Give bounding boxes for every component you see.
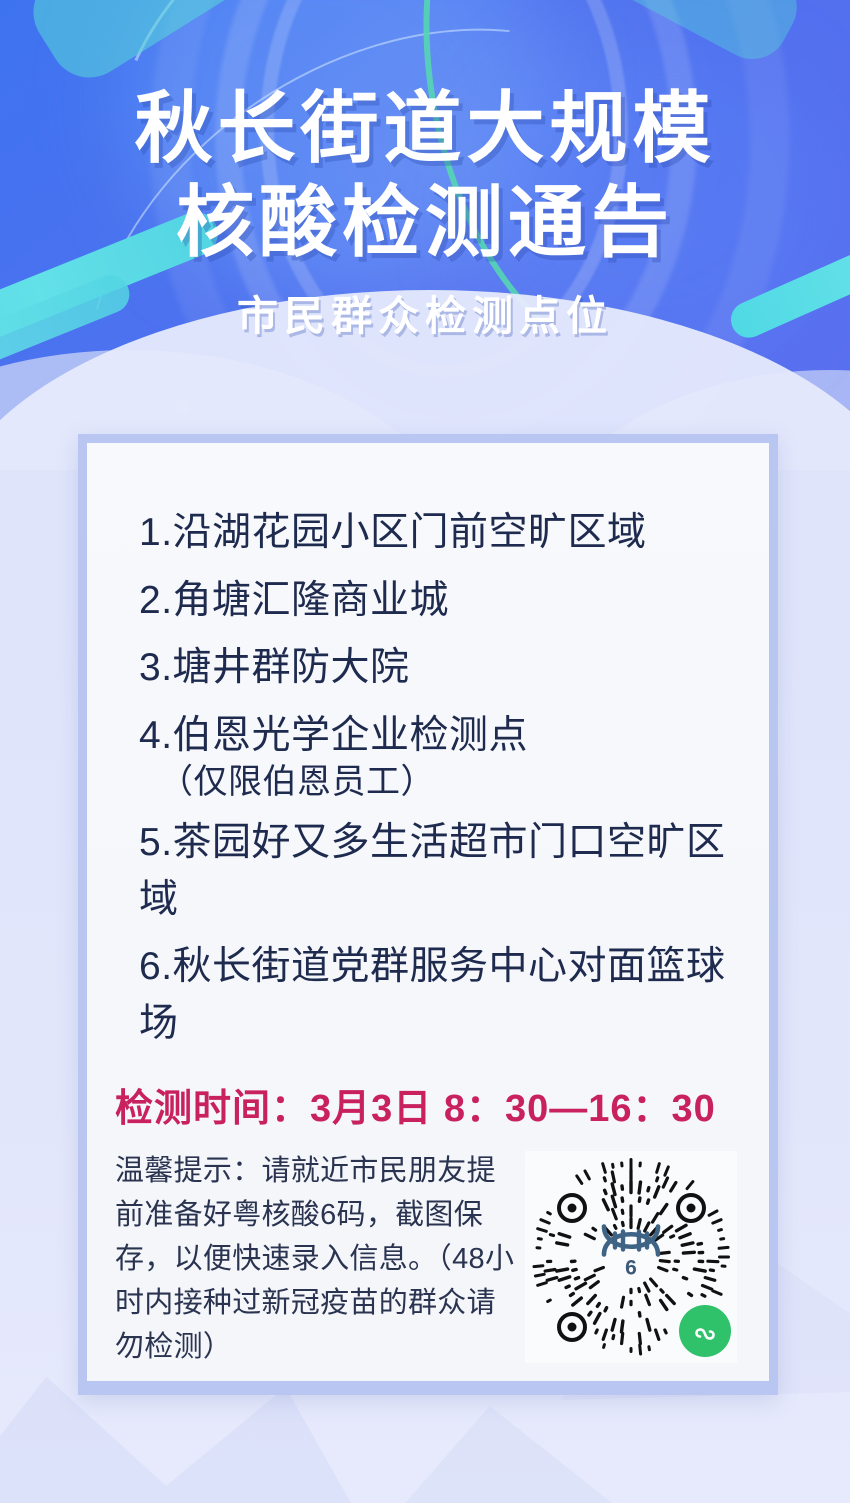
- testing-time-label: 检测时间：3月3日 8：30—16：30: [115, 1077, 716, 1132]
- list-item: 3.塘井群防大院: [139, 640, 743, 697]
- list-item-text: 4.伯恩光学企业检测点: [139, 714, 528, 757]
- list-item: 1.沿湖花园小区门前空旷区域: [139, 505, 743, 562]
- qr-center-number: 6: [594, 1257, 668, 1278]
- info-card-frame: 1.沿湖花园小区门前空旷区域 2.角塘汇隆商业城 3.塘井群防大院 4.伯恩光学…: [78, 434, 778, 1395]
- list-item-text: 2.角塘汇隆商业城: [139, 579, 449, 622]
- list-item-subnote: （仅限伯恩员工）: [159, 760, 743, 804]
- poster-title-block: 秋长街道大规模 核酸检测通告 市民群众检测点位: [0, 86, 850, 342]
- list-item-text: 6.秋长街道党群服务中心对面篮球场: [139, 945, 726, 1045]
- testing-site-list: 1.沿湖花园小区门前空旷区域 2.角塘汇隆商业城 3.塘井群防大院 4.伯恩光学…: [139, 505, 743, 1064]
- poster-title-line-2: 核酸检测通告: [0, 180, 850, 264]
- list-item-text: 1.沿湖花园小区门前空旷区域: [139, 511, 647, 554]
- info-card: 1.沿湖花园小区门前空旷区域 2.角塘汇隆商业城 3.塘井群防大院 4.伯恩光学…: [87, 443, 769, 1381]
- mini-program-glyph: [689, 1315, 721, 1347]
- qr-center-logo: 6: [594, 1219, 668, 1278]
- warm-reminder-text: 温馨提示：请就近市民朋友提前准备好粤核酸6码，截图保存，以便快速录入信息。（48…: [115, 1149, 515, 1369]
- list-item: 5.茶园好又多生活超市门口空旷区域: [139, 815, 743, 928]
- list-item-text: 5.茶园好又多生活超市门口空旷区域: [139, 821, 726, 921]
- list-item-text: 3.塘井群防大院: [139, 646, 410, 689]
- wechat-mini-program-icon[interactable]: [679, 1305, 731, 1357]
- poster-title-line-1: 秋长街道大规模: [0, 86, 850, 170]
- notice-row: 温馨提示：请就近市民朋友提前准备好粤核酸6码，截图保存，以便快速录入信息。（48…: [115, 1149, 747, 1369]
- list-item: 6.秋长街道党群服务中心对面篮球场: [139, 939, 743, 1052]
- poster-root: 秋长街道大规模 核酸检测通告 市民群众检测点位 1.沿湖花园小区门前空旷区域 2…: [0, 0, 850, 1503]
- dna-helix-icon: [594, 1219, 668, 1261]
- qr-code[interactable]: 6: [525, 1151, 737, 1363]
- poster-subtitle: 市民群众检测点位: [0, 282, 850, 342]
- list-item: 4.伯恩光学企业检测点 （仅限伯恩员工）: [139, 708, 743, 805]
- list-item: 2.角塘汇隆商业城: [139, 573, 743, 630]
